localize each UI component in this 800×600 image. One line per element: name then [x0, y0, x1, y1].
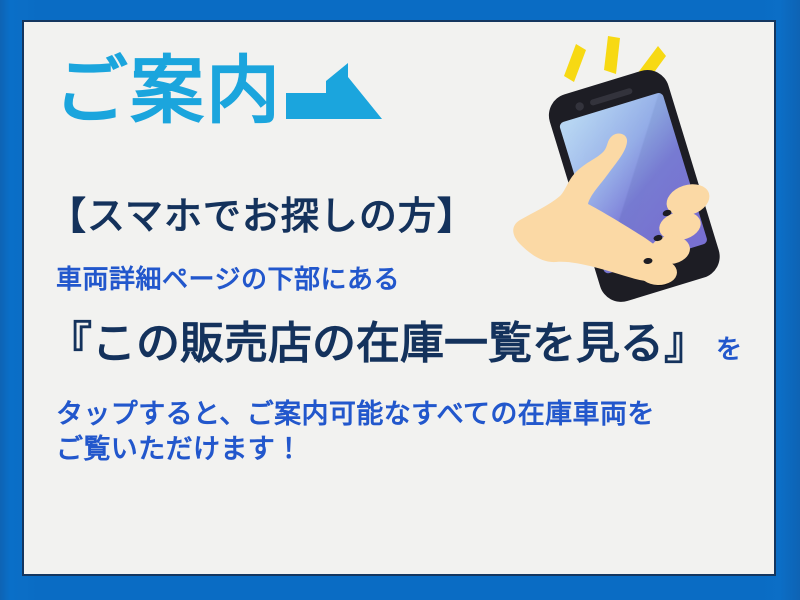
- title-text: ご案内: [54, 54, 282, 128]
- hand-holding-smartphone-illustration: [504, 30, 754, 310]
- copy-tail-line-1: タップすると、ご案内可能なすべての在庫車両を: [56, 397, 748, 433]
- content-panel: ご案内 【スマホでお探しの方】 車両詳細ページの下部にある 『この販売店の在庫一…: [26, 24, 772, 572]
- banner-title: ご案内: [54, 54, 382, 128]
- guidance-banner: ご案内 【スマホでお探しの方】 車両詳細ページの下部にある 『この販売店の在庫一…: [0, 0, 800, 600]
- copy-tail-line-2: ご覧いただけます！: [56, 432, 748, 468]
- copy-emphasis-line: 『この販売店の在庫一覧を見る』 を: [48, 320, 748, 368]
- copy-tail-block: タップすると、ご案内可能なすべての在庫車両を ご覧いただけます！: [48, 397, 748, 468]
- copy-emphasis-text: 『この販売店の在庫一覧を見る』: [48, 320, 708, 368]
- copy-emphasis-particle: を: [716, 329, 742, 366]
- arrow-flag-icon: [286, 63, 382, 124]
